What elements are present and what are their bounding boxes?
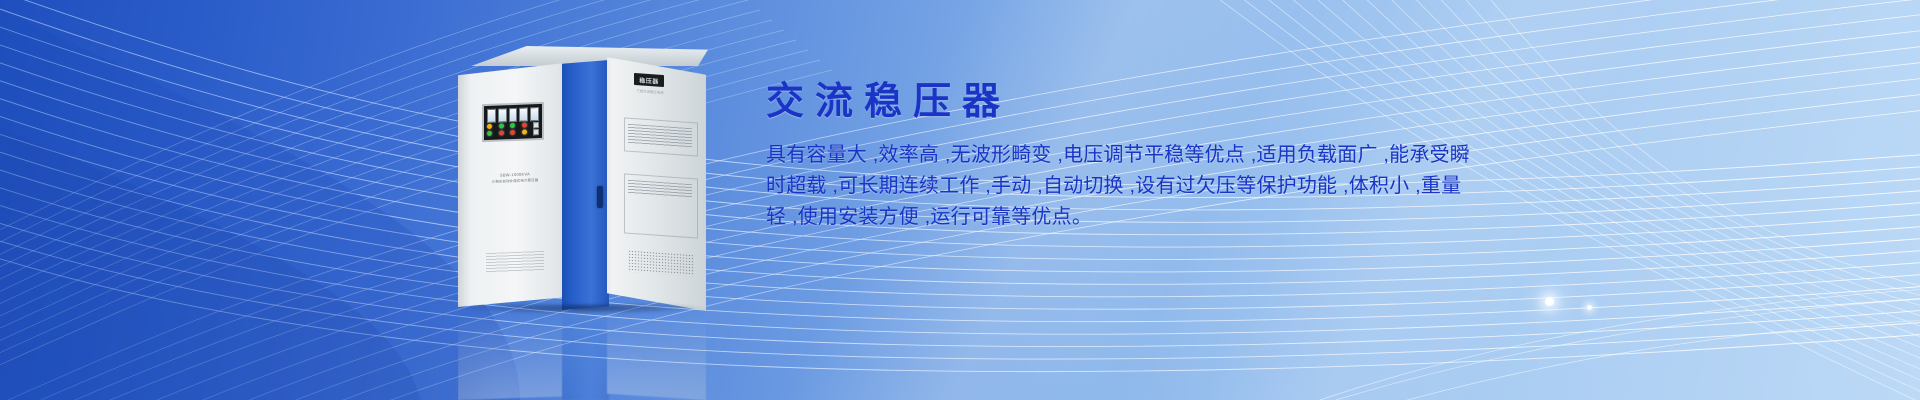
- product-image: SBW-1000KVA 三相全自动补偿式电力稳压器 稳压器 三相交流稳压电源: [438, 46, 708, 308]
- side-vent-perforations: [628, 250, 694, 277]
- indicator-lamp: [522, 129, 527, 134]
- indicator-lamp: [487, 124, 492, 129]
- description-line: 轻 ,使用安装方便 ,运行可靠等优点。: [766, 202, 1466, 233]
- banner-copy: 交流稳压器 具有容量大 ,效率高 ,无波形畸变 ,电压调节平稳等优点 ,适用负载…: [766, 78, 1466, 233]
- product-reflection: [458, 308, 708, 400]
- indicator-lamp: [487, 131, 492, 136]
- indicator-lamp: [499, 130, 504, 135]
- description-block: 具有容量大 ,效率高 ,无波形畸变 ,电压调节平稳等优点 ,适用负载面广 ,能承…: [766, 140, 1466, 233]
- description-line: 具有容量大 ,效率高 ,无波形畸变 ,电压调节平稳等优点 ,适用负载面广 ,能承…: [766, 140, 1466, 171]
- meter-display: [498, 108, 507, 122]
- indicator-lamp-row-2: [487, 129, 539, 137]
- brand-logo-text: 稳压器: [639, 75, 659, 85]
- meter-display: [519, 107, 528, 121]
- description-line: 时超载 ,可长期连续工作 ,手动 ,自动切换 ,设有过欠压等保护功能 ,体积小 …: [766, 171, 1466, 202]
- page-title: 交流稳压器: [766, 78, 1466, 126]
- indicator-lamp: [522, 122, 527, 127]
- cabinet-model-label: SBW-1000KVA 三相全自动补偿式电力稳压器: [484, 171, 546, 185]
- brand-logo-plate: 稳压器: [634, 73, 664, 87]
- front-ventilation-grille: [486, 251, 544, 273]
- meter-row: [487, 107, 539, 123]
- sparkle-dot-small-icon: [1587, 305, 1592, 310]
- panel-button: [533, 129, 539, 135]
- indicator-lamp: [499, 123, 504, 128]
- door-handle: [597, 186, 603, 208]
- indicator-lamp: [510, 123, 515, 128]
- reflection-door: [562, 310, 609, 400]
- indicator-lamp: [510, 130, 515, 135]
- product-banner: SBW-1000KVA 三相全自动补偿式电力稳压器 稳压器 三相交流稳压电源 交…: [0, 0, 1920, 400]
- cabinet-blue-door: [562, 60, 609, 310]
- reflection-front: [458, 310, 564, 400]
- panel-button: [533, 122, 539, 128]
- meter-display: [509, 108, 518, 122]
- meter-display: [487, 109, 496, 123]
- meter-display: [530, 107, 539, 121]
- sparkle-dot-icon: [1545, 297, 1554, 306]
- reflection-side: [607, 310, 706, 400]
- control-panel: [482, 102, 544, 142]
